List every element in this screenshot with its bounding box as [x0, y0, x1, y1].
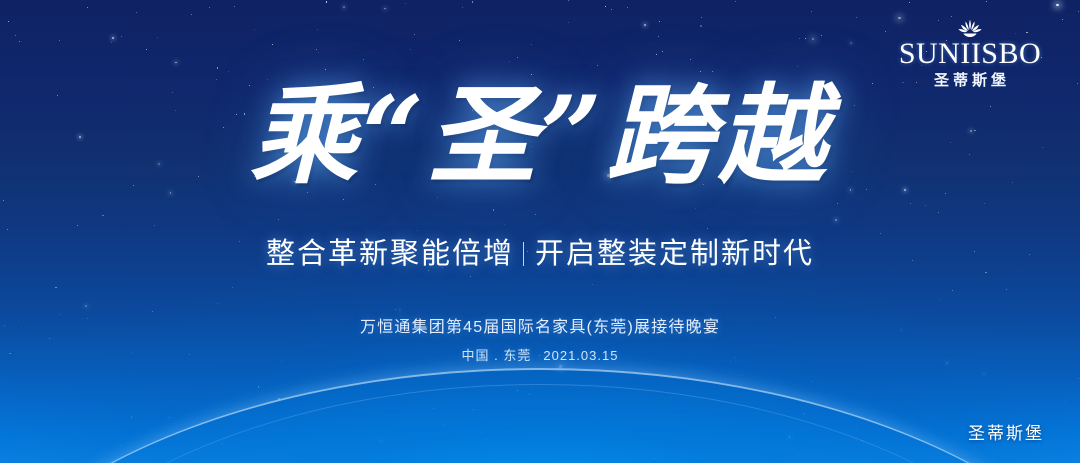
headline: 乘“圣”跨越 [0, 78, 1080, 195]
event-date: 2021.03.15 [543, 348, 618, 363]
place-date-line: 中国 . 东莞2021.03.15 [0, 345, 1080, 364]
event-place: 中国 . 东莞 [462, 348, 532, 363]
logo-wordmark: SUNIISBO [894, 39, 1046, 69]
horizon-arc [0, 368, 1080, 463]
subtitle: 整合革新聚能倍增开启整装定制新时代 [0, 230, 1080, 272]
event-banner: SUNIISBO 圣蒂斯堡 乘“圣”跨越 整合革新聚能倍增开启整装定制新时代 万… [0, 0, 1080, 463]
horizon-arc-line-secondary [0, 384, 1080, 463]
subtitle-separator [523, 242, 524, 266]
subtitle-right: 开启整装定制新时代 [535, 238, 814, 270]
event-line: 万恒通集团第45届国际名家具(东莞)展接待晚宴 [0, 313, 1080, 337]
watermark: 圣蒂斯堡 [968, 419, 1044, 444]
horizon-arc-line [0, 368, 1080, 463]
subtitle-left: 整合革新聚能倍增 [266, 238, 514, 270]
lotus-sunburst-icon [945, 18, 995, 38]
